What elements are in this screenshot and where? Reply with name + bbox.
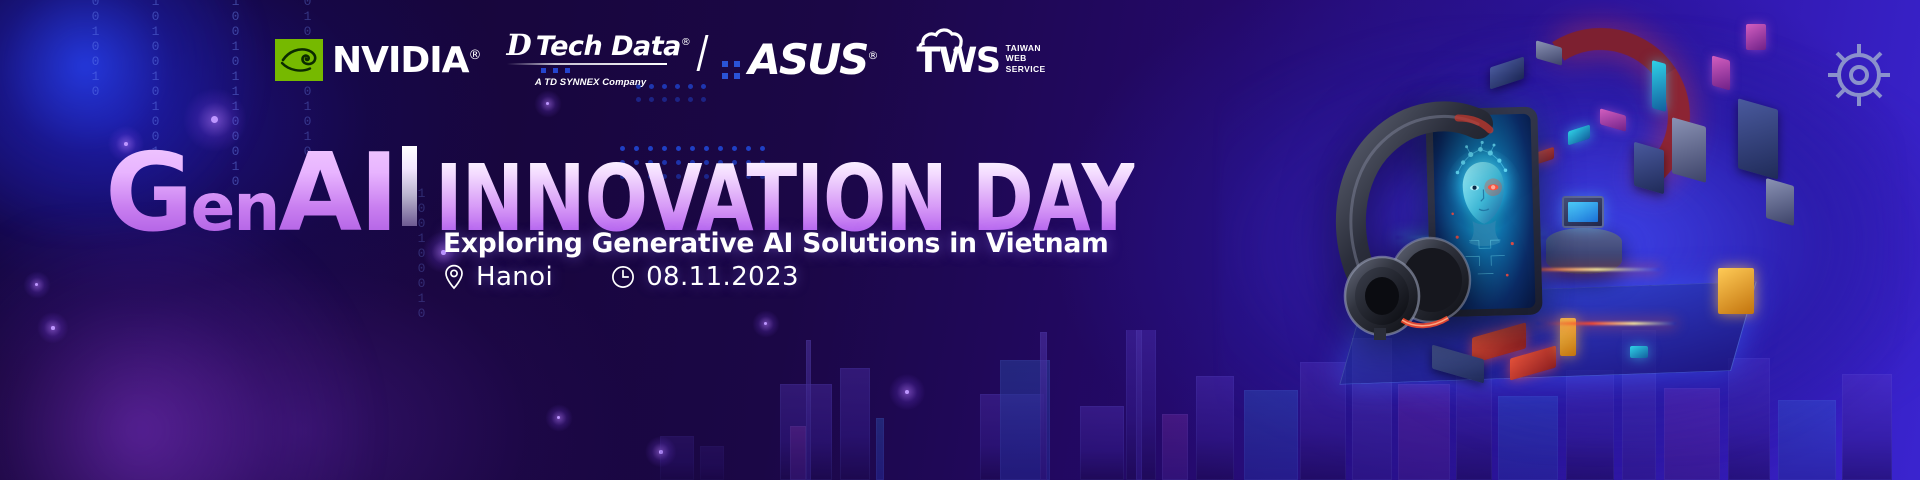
gear-icon	[1822, 38, 1896, 112]
techdata-wordmark: Tech Data®	[536, 33, 691, 60]
iso-block	[1652, 60, 1666, 112]
iso-block	[1712, 55, 1730, 90]
sparkle	[557, 416, 560, 419]
logo-techdata[interactable]: D Tech Data® A TD SYNNEX Company	[507, 31, 691, 90]
partner-logo-row: NVIDIA® D Tech Data® A TD SYNNEX Company…	[275, 34, 1046, 86]
iso-block	[1718, 268, 1754, 314]
nvidia-wordmark: NVIDIA®	[332, 43, 481, 79]
tws-sub-service: SERVICE	[1006, 64, 1046, 74]
event-meta-row: Hanoi 08.11.2023	[443, 262, 799, 292]
asus-label: ASUS	[748, 35, 867, 84]
headline-gen-g: G	[105, 131, 191, 256]
sparkle	[764, 322, 767, 325]
iso-block	[1630, 346, 1648, 358]
nvidia-eye-icon	[275, 39, 323, 81]
headline-genai: GenAI	[105, 140, 396, 248]
event-date: 08.11.2023	[611, 262, 799, 292]
sparkle	[51, 326, 55, 330]
iso-block	[1672, 117, 1706, 183]
techdata-subtitle: A TD SYNNEX Company	[507, 77, 675, 88]
logo-asus[interactable]: ASUS®	[748, 39, 876, 81]
sparkle	[659, 450, 663, 454]
nvidia-trademark: ®	[469, 48, 481, 63]
date-text: 08.11.2023	[646, 262, 799, 292]
asus-wordmark: ASUS®	[748, 35, 876, 84]
asus-trademark: ®	[867, 49, 876, 62]
techdata-label: Tech Data	[536, 31, 681, 62]
logo-tws[interactable]: TWS TAIWAN WEB SERVICE	[916, 43, 1045, 77]
tws-subtitle: TAIWAN WEB SERVICE	[1006, 43, 1046, 77]
neon-light-bar	[1536, 322, 1676, 325]
location-text: Hanoi	[476, 262, 553, 292]
nvidia-label: NVIDIA	[332, 40, 469, 81]
headphones	[1308, 88, 1508, 340]
sparkle	[35, 283, 38, 286]
cloud-icon	[918, 26, 974, 52]
techdata-dot-accent	[541, 68, 691, 73]
iso-block	[1738, 98, 1778, 179]
techdata-underline	[507, 63, 667, 65]
techdata-trademark: ®	[681, 37, 691, 48]
mini-monitor	[1562, 196, 1604, 228]
isometric-3d-ai-tech-illustration	[1300, 0, 1920, 480]
techdata-d-mark: D	[507, 31, 531, 60]
logo-nvidia[interactable]: NVIDIA®	[275, 39, 481, 81]
headline-ai: AI	[278, 131, 396, 256]
sparkle	[211, 116, 218, 123]
tws-sub-taiwan: TAIWAN	[1006, 43, 1041, 53]
event-location: Hanoi	[443, 262, 553, 292]
headline-divider	[402, 146, 417, 226]
tws-sub-web: WEB	[1006, 53, 1027, 63]
iso-block	[1766, 178, 1794, 226]
map-pin-icon	[443, 264, 465, 290]
iso-block	[1746, 24, 1766, 50]
tagline: Exploring Generative AI Solutions in Vie…	[443, 228, 1109, 259]
iso-block	[1634, 142, 1664, 195]
binary-rain-column: 0010010	[88, 0, 103, 164]
sparkle	[905, 390, 909, 394]
techdata-slash-mark	[697, 35, 709, 71]
purple-glow-bottom-left	[0, 220, 400, 480]
sparkle	[546, 102, 549, 105]
headline-gen-en: en	[191, 169, 279, 246]
asus-dot-accent	[722, 61, 740, 79]
genai-innovation-day-banner: 0010010 10100101001 1001011100010 010010…	[0, 0, 1920, 480]
clock-icon	[611, 265, 635, 289]
